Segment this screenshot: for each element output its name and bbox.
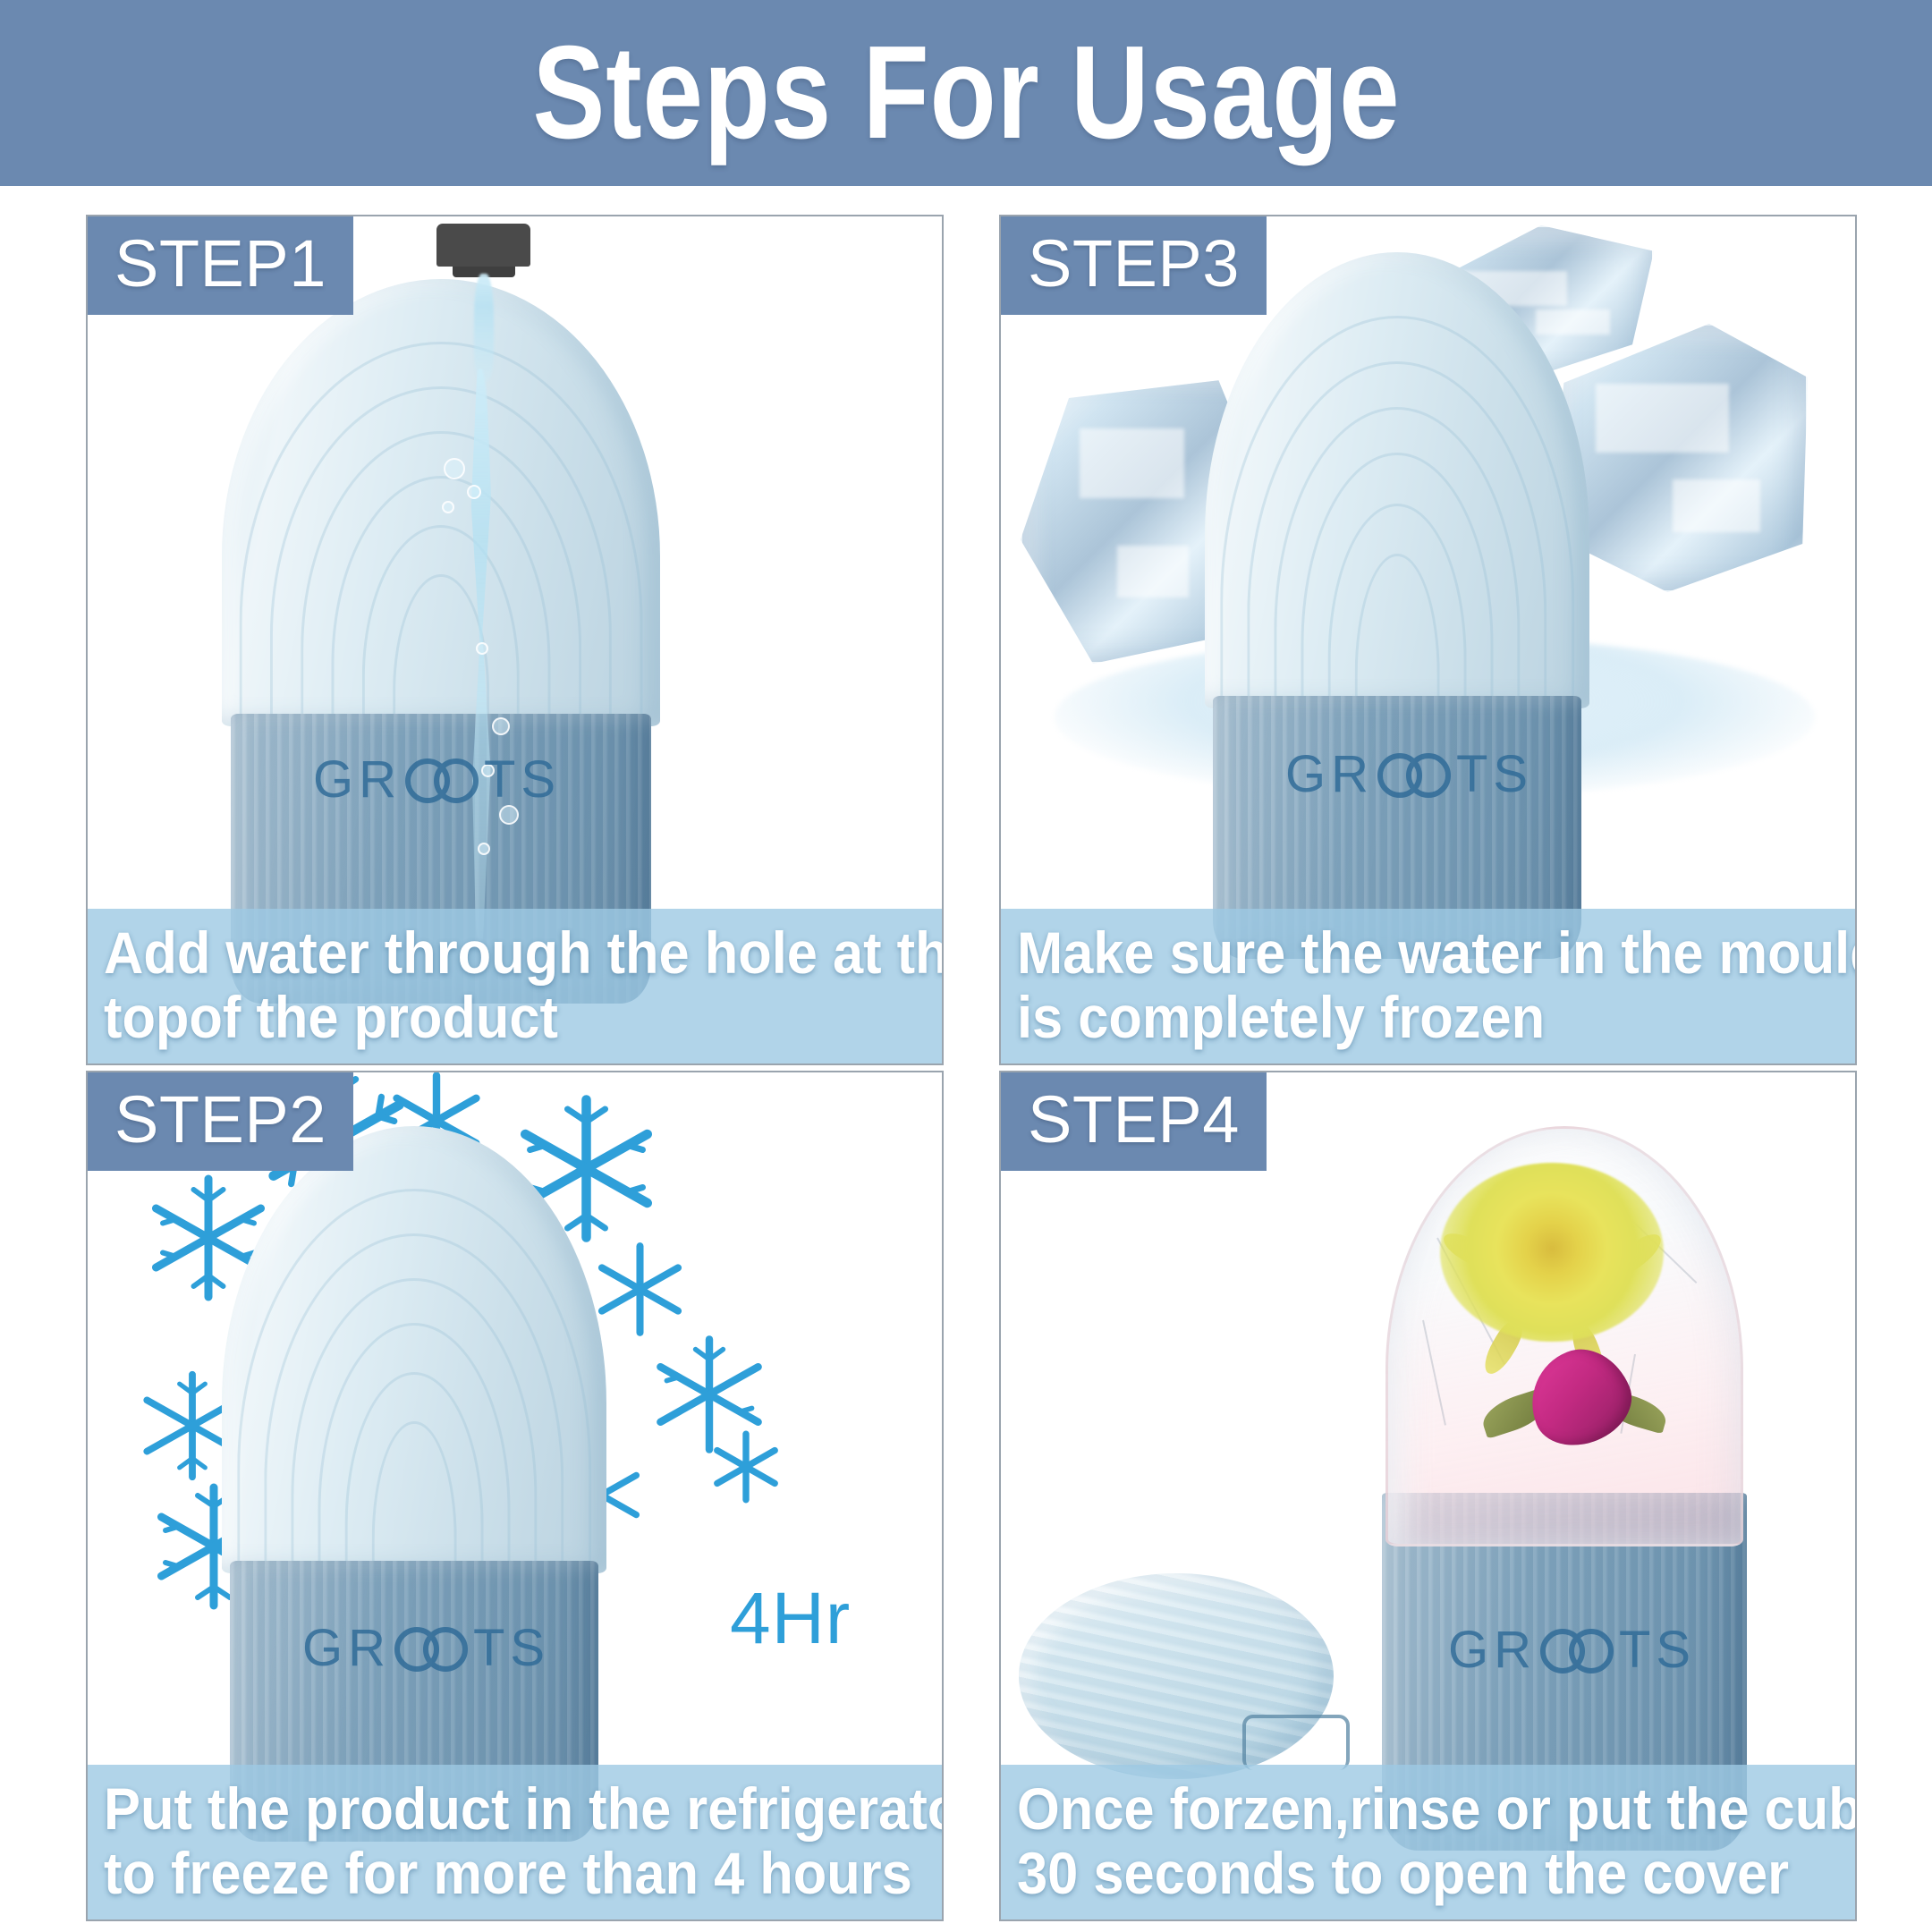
water-bubble — [442, 501, 454, 513]
panel-step1: GR TS STEP1 Add water through the hole a… — [86, 215, 944, 1065]
caption-step3: Make sure the water in the mould is comp… — [1001, 909, 1855, 1063]
lid-notch-icon — [1242, 1715, 1350, 1770]
water-bubble — [467, 485, 481, 499]
brand-prefix: GR — [1448, 1620, 1537, 1680]
brand-suffix: TS — [1456, 744, 1533, 804]
snowflake-icon — [705, 1426, 787, 1508]
brand-prefix: GR — [302, 1618, 391, 1678]
brand-suffix: TS — [484, 750, 561, 809]
caption-step4: Once forzen,rinse or put the cubefor 30 … — [1001, 1765, 1855, 1919]
ice-roller-product — [222, 1126, 606, 1842]
product-cap — [222, 279, 660, 726]
step-badge-3: STEP3 — [1001, 216, 1267, 315]
caption-line: to freeze for more than 4 hours — [104, 1842, 869, 1905]
water-bubble — [492, 717, 510, 735]
yellow-flower — [1440, 1163, 1664, 1342]
caption-step2: Put the product in the refrigerator to f… — [88, 1765, 942, 1919]
brand-rings-icon — [394, 1625, 470, 1672]
brand-logo: GR TS — [1285, 744, 1533, 804]
steps-for-usage-infographic: Steps For Usage — [0, 0, 1932, 1932]
water-bubble — [476, 642, 488, 655]
cap-rib-texture — [222, 1126, 606, 1573]
water-bubble — [444, 458, 465, 479]
brand-prefix: GR — [313, 750, 402, 809]
page-title: Steps For Usage — [532, 27, 1400, 159]
brand-logo: GR TS — [313, 750, 561, 809]
product-cap — [1205, 252, 1589, 708]
panel-step2: GR TS 4Hr STEP2 Put the product in the r… — [86, 1071, 944, 1921]
step-badge-2: STEP2 — [88, 1072, 353, 1171]
panel-step3: GR TS STEP3 Make sure the water in the m… — [999, 215, 1857, 1065]
ice-roller-product — [1205, 252, 1589, 959]
caption-line: 30 seconds to open the cover — [1017, 1842, 1782, 1905]
brand-suffix: TS — [473, 1618, 550, 1678]
header-banner: Steps For Usage — [0, 0, 1932, 186]
bottle-cap-icon — [436, 224, 530, 267]
brand-suffix: TS — [1619, 1620, 1696, 1680]
brand-rings-icon — [1377, 751, 1453, 798]
duration-label: 4Hr — [730, 1582, 851, 1656]
caption-line: Put the product in the refrigerator — [104, 1777, 869, 1841]
cap-rib-texture — [222, 279, 660, 726]
brand-rings-icon — [405, 757, 480, 803]
brand-rings-icon — [1540, 1627, 1615, 1674]
brand-prefix: GR — [1285, 744, 1374, 804]
caption-line: Make sure the water in the mould — [1017, 921, 1782, 985]
caption-line: Once forzen,rinse or put the cubefor — [1017, 1777, 1782, 1841]
step-badge-4: STEP4 — [1001, 1072, 1267, 1171]
brand-logo: GR TS — [302, 1618, 550, 1678]
caption-line: is completely frozen — [1017, 986, 1782, 1049]
water-stream — [474, 274, 494, 381]
ice-roller-product — [222, 279, 660, 1004]
brand-logo: GR TS — [1448, 1620, 1696, 1680]
caption-step1: Add water through the hole at the topof … — [88, 909, 942, 1063]
caption-line: topof the product — [104, 986, 869, 1049]
pink-rosebud — [1516, 1335, 1644, 1459]
caption-line: Add water through the hole at the — [104, 921, 869, 985]
step-badge-1: STEP1 — [88, 216, 353, 315]
cap-rib-texture — [1205, 252, 1589, 708]
panel-step4: GR TS STEP4 Once forzen,rinse or put the… — [999, 1071, 1857, 1921]
frozen-ice-dome — [1385, 1126, 1743, 1546]
water-bubble — [478, 843, 490, 855]
product-cap — [222, 1126, 606, 1573]
